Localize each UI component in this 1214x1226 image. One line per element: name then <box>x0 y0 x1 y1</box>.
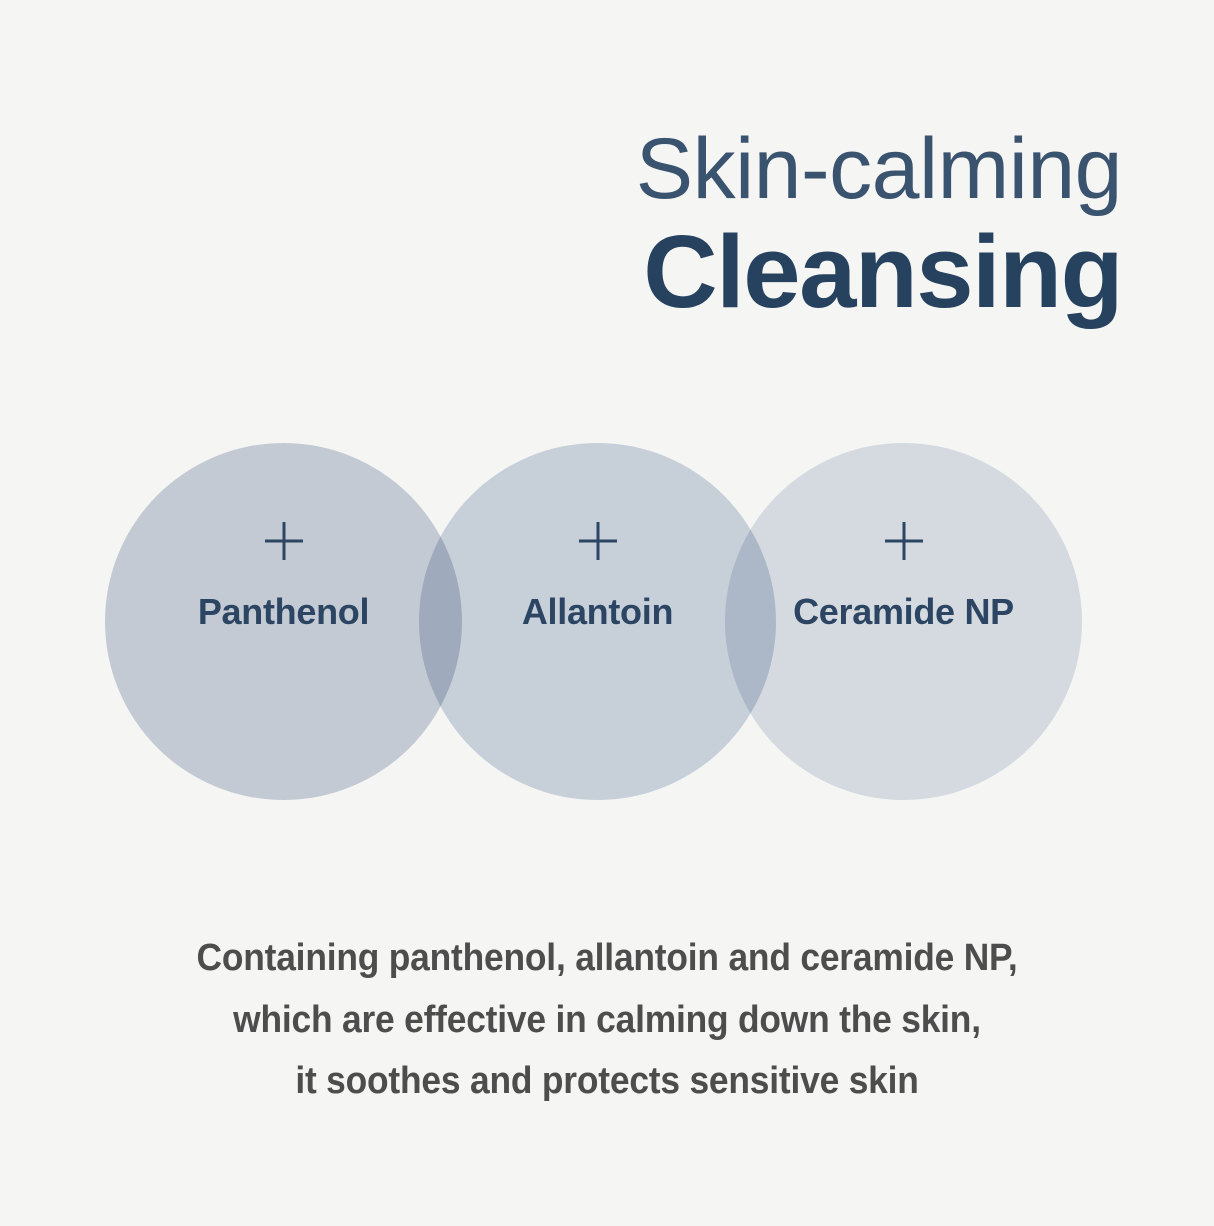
ingredient-circle-panthenol <box>105 443 462 800</box>
headline-line-2: Cleansing <box>0 220 1122 323</box>
description-line-3: it soothes and protects sensitive skin <box>42 1051 1171 1113</box>
headline-line-1: Skin-calming <box>0 126 1122 220</box>
description-line-2: which are effective in calming down the … <box>42 990 1171 1052</box>
ingredient-circle-allantoin <box>419 443 776 800</box>
promo-banner: Skin-calming Cleansing Panthenol A <box>0 0 1214 1226</box>
description-paragraph: Containing panthenol, allantoin and cera… <box>42 928 1171 1113</box>
description-line-1: Containing panthenol, allantoin and cera… <box>42 928 1171 990</box>
ingredient-venn-diagram: Panthenol Allantoin Ceramide NP <box>0 443 1214 803</box>
page-title: Skin-calming Cleansing <box>0 126 1122 323</box>
ingredient-circle-ceramide-np <box>725 443 1082 800</box>
